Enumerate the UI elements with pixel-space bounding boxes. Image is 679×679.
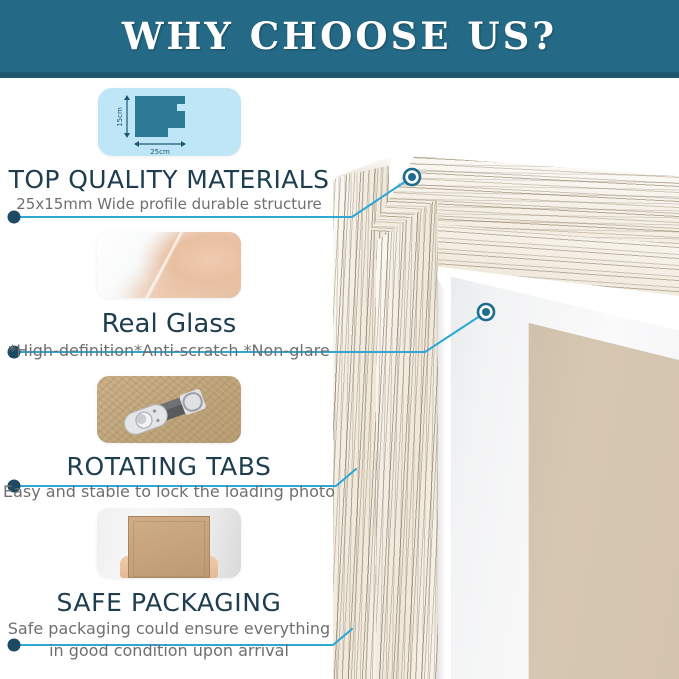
- cardboard-box-image: [97, 508, 241, 578]
- feature-subtitle-line1: Safe packaging could ensure everything: [0, 618, 338, 639]
- page-title: WHY CHOOSE US?: [0, 0, 679, 72]
- feature-title: SAFE PACKAGING: [0, 588, 338, 617]
- hand-holding-glass-photo-icon: [97, 232, 241, 298]
- feature-rotating-tabs: ROTATING TABS Easy and stable to lock th…: [0, 376, 338, 501]
- feature-title: Real Glass: [0, 309, 338, 339]
- hands-holding-cardboard-box-icon: [97, 508, 241, 578]
- product-photo-picture-frame: [331, 78, 679, 679]
- profile-diagram-svg: 15cm 25cm: [98, 88, 241, 156]
- rotating-tab-svg: [97, 376, 241, 443]
- diagram-width-label: 25cm: [150, 148, 170, 156]
- diagram-height-label: 15cm: [116, 107, 124, 127]
- frame-photo-area: [524, 308, 679, 679]
- feature-top-quality-materials: 15cm 25cm TOP QUALITY MATERIALS 25x15mm …: [0, 88, 338, 214]
- feature-title: TOP QUALITY MATERIALS: [0, 165, 338, 194]
- feature-subtitle-line2: in good condition upon arrival: [0, 640, 338, 661]
- feature-title: ROTATING TABS: [0, 452, 338, 481]
- cardboard-box: [128, 516, 210, 578]
- feature-safe-packaging: SAFE PACKAGING Safe packaging could ensu…: [0, 508, 338, 661]
- feature-subtitle: Easy and stable to lock the loading phot…: [0, 482, 338, 501]
- frame-left-rail: [376, 198, 438, 679]
- profile-cross-section-shape: [135, 96, 185, 137]
- header-banner: WHY CHOOSE US?: [0, 0, 679, 78]
- glass-photo-image: [97, 232, 241, 298]
- feature-real-glass: Real Glass *High-definition*Anti-scratch…: [0, 232, 338, 360]
- feature-subtitle: *High-definition*Anti-scratch *Non-glare: [0, 341, 338, 360]
- metal-rotating-tab-photo-icon: [97, 376, 241, 443]
- feature-subtitle: 25x15mm Wide profile durable structure: [0, 195, 338, 214]
- frame-profile-diagram-icon: 15cm 25cm: [98, 88, 241, 156]
